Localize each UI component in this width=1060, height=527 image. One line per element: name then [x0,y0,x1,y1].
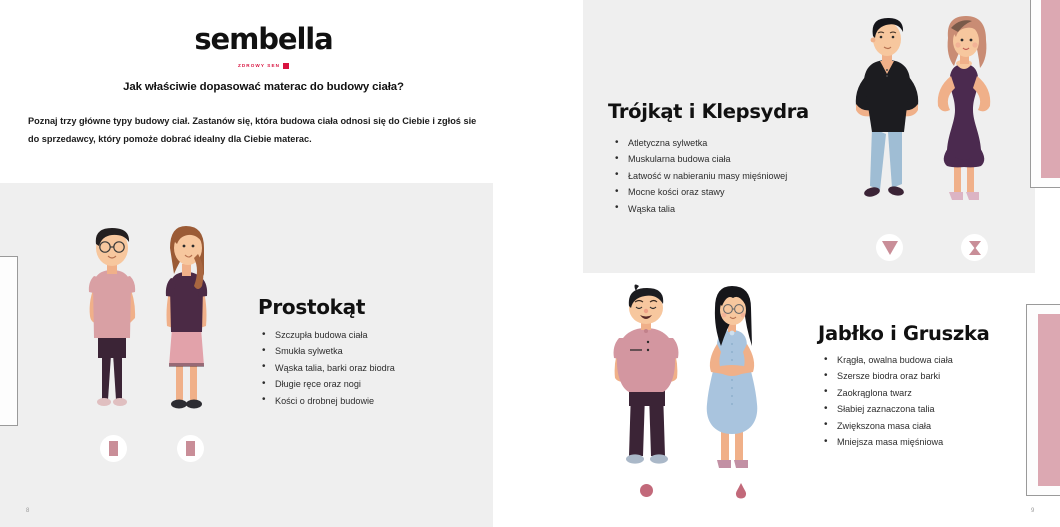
apple-icon [633,477,660,504]
pear-icon [727,477,754,504]
page-number-right: 9 [1031,508,1034,514]
body-type-bullets-jablko: Krągła, owalna budowa ciała Szersze biod… [822,352,1060,450]
page-number-left: 8 [26,508,29,514]
list-item: Muskularna budowa ciała [613,151,883,167]
body-type-title-prostokat: Prostokąt [258,295,365,319]
body-type-title-trojkat: Trójkąt i Klepsydra [608,100,809,123]
pear-shape [734,483,748,499]
figure-group-prostokat [72,220,232,425]
body-type-bullets-prostokat: Szczupła budowa ciała Smukła sylwetka Wą… [260,327,480,409]
slide-page-9: Trójkąt i Klepsydra Atletyczna sylwetka … [530,0,1060,527]
hourglass-icon [961,234,988,261]
list-item: Kości o drobnej budowie [260,393,480,409]
brand-tagline: ZDROWY SEN [238,63,280,68]
accent-frame-left [0,256,18,426]
inverted-triangle-icon [876,234,903,261]
figure-woman-slim-ponytail [166,226,207,409]
slide-page-8: sembella ZDROWY SEN Jak właściwie dopaso… [0,0,527,527]
list-item: Mocne kości oraz stawy [613,184,883,200]
brand-logo: sembella ZDROWY SEN [0,24,527,72]
list-item: Wąska talia [613,201,883,217]
figure-man-slim-glasses [89,228,135,406]
brand-tagline-group: ZDROWY SEN [238,63,289,69]
body-type-bullets-trojkat: Atletyczna sylwetka Muskularna budowa ci… [613,135,883,217]
brand-name: sembella [0,24,527,54]
rectangle-shape [109,441,118,456]
list-item: Szersze biodra oraz barki [822,368,1060,384]
figure-group-jablko [605,284,780,489]
list-item: Atletyczna sylwetka [613,135,883,151]
list-item: Szczupła budowa ciała [260,327,480,343]
list-item: Zaokrąglona twarz [822,385,1060,401]
figure-woman-hourglass-purple-dress [938,16,990,200]
hourglass-shape [968,240,982,256]
list-item: Krągła, owalna budowa ciała [822,352,1060,368]
list-item: Mniejsza masa mięśniowa [822,434,1060,450]
list-item: Słabiej zaznaczona talia [822,401,1060,417]
list-item: Łatwość w nabieraniu masy mięśniowej [613,168,883,184]
apple-shape [640,484,653,497]
brand-square-icon [283,63,289,69]
figure-man-round-pink-shirt [614,285,679,464]
list-item: Smukła sylwetka [260,343,480,359]
page-title: Jak właściwie dopasować materac do budow… [0,81,527,93]
list-item: Wąska talia, barki oraz biodra [260,360,480,376]
rectangle-shape [186,441,195,456]
triangle-shape [882,241,898,255]
rectangle-icon-2 [177,435,204,462]
list-item: Długie ręce oraz nogi [260,376,480,392]
figure-woman-pear-blue-dress [707,286,758,468]
accent-frame-top-right [1030,0,1060,188]
rectangle-icon-1 [100,435,127,462]
intro-paragraph: Poznaj trzy główne typy budowy ciał. Zas… [28,113,490,148]
body-type-title-jablko: Jabłko i Gruszka [818,322,990,345]
list-item: Zwiększona masa ciała [822,418,1060,434]
